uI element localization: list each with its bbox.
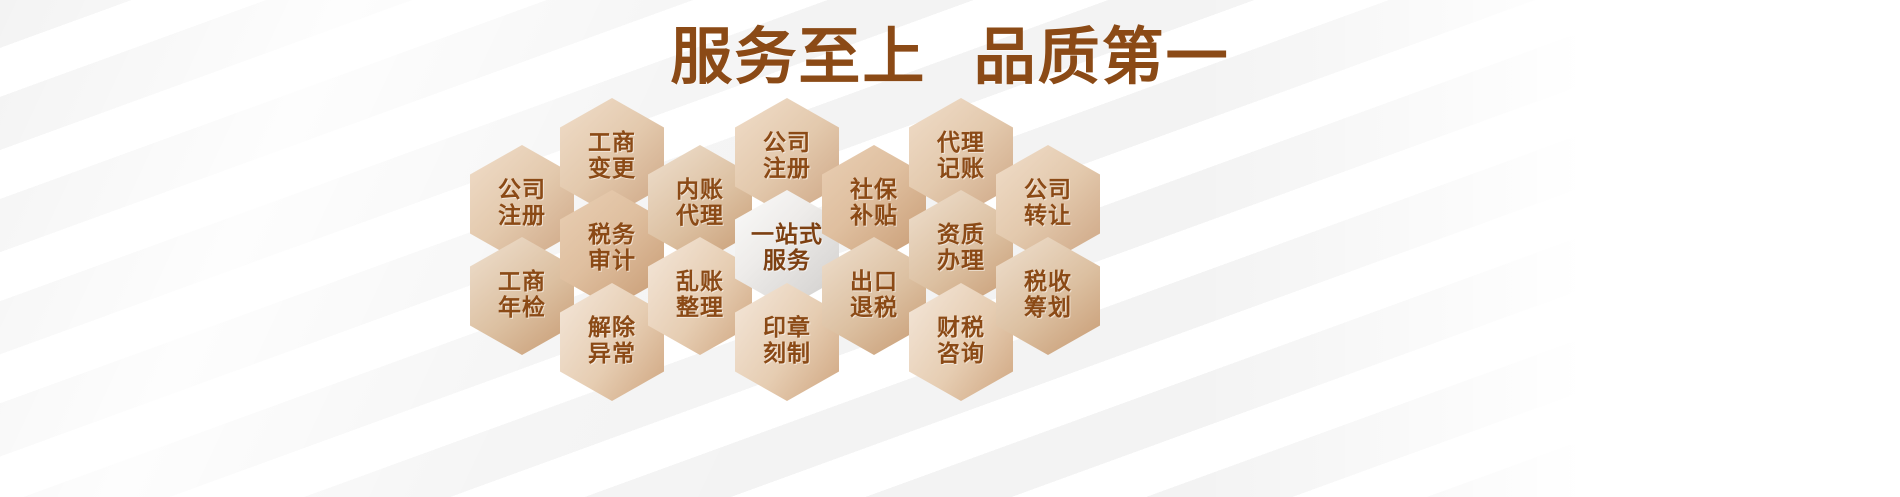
page-title: 服务至上 品质第一 — [0, 6, 1900, 96]
hex-cell-label: 社保 补贴 — [850, 178, 898, 230]
hex-cell-label: 印章 刻制 — [763, 316, 811, 368]
hex-cell-label: 公司 转让 — [1024, 178, 1072, 230]
hex-cell-label: 税务 审计 — [588, 223, 636, 275]
hex-cell-label: 代理 记账 — [937, 131, 985, 183]
hex-cell-label: 内账 代理 — [676, 178, 724, 230]
hex-cell-label: 一站式 服务 — [751, 223, 823, 275]
hex-cell-label: 财税 咨询 — [937, 316, 985, 368]
hex-cell-label: 税收 筹划 — [1024, 270, 1072, 322]
hex-cell-label: 工商 变更 — [588, 131, 636, 183]
hex-cell-label: 工商 年检 — [498, 270, 546, 322]
hex-cell-label: 乱账 整理 — [676, 270, 724, 322]
hex-cell[interactable]: 工商 年检 — [470, 237, 574, 355]
hex-cell-label: 出口 退税 — [850, 270, 898, 322]
promo-banner: 服务至上 品质第一 公司 注册工商 年检工商 变更税务 审计解除 异常内账 代理… — [0, 0, 1900, 497]
hex-cell-label: 解除 异常 — [588, 316, 636, 368]
hex-cell-label: 公司 注册 — [763, 131, 811, 183]
hex-cell-label: 资质 办理 — [937, 223, 985, 275]
hex-cell-label: 公司 注册 — [498, 178, 546, 230]
